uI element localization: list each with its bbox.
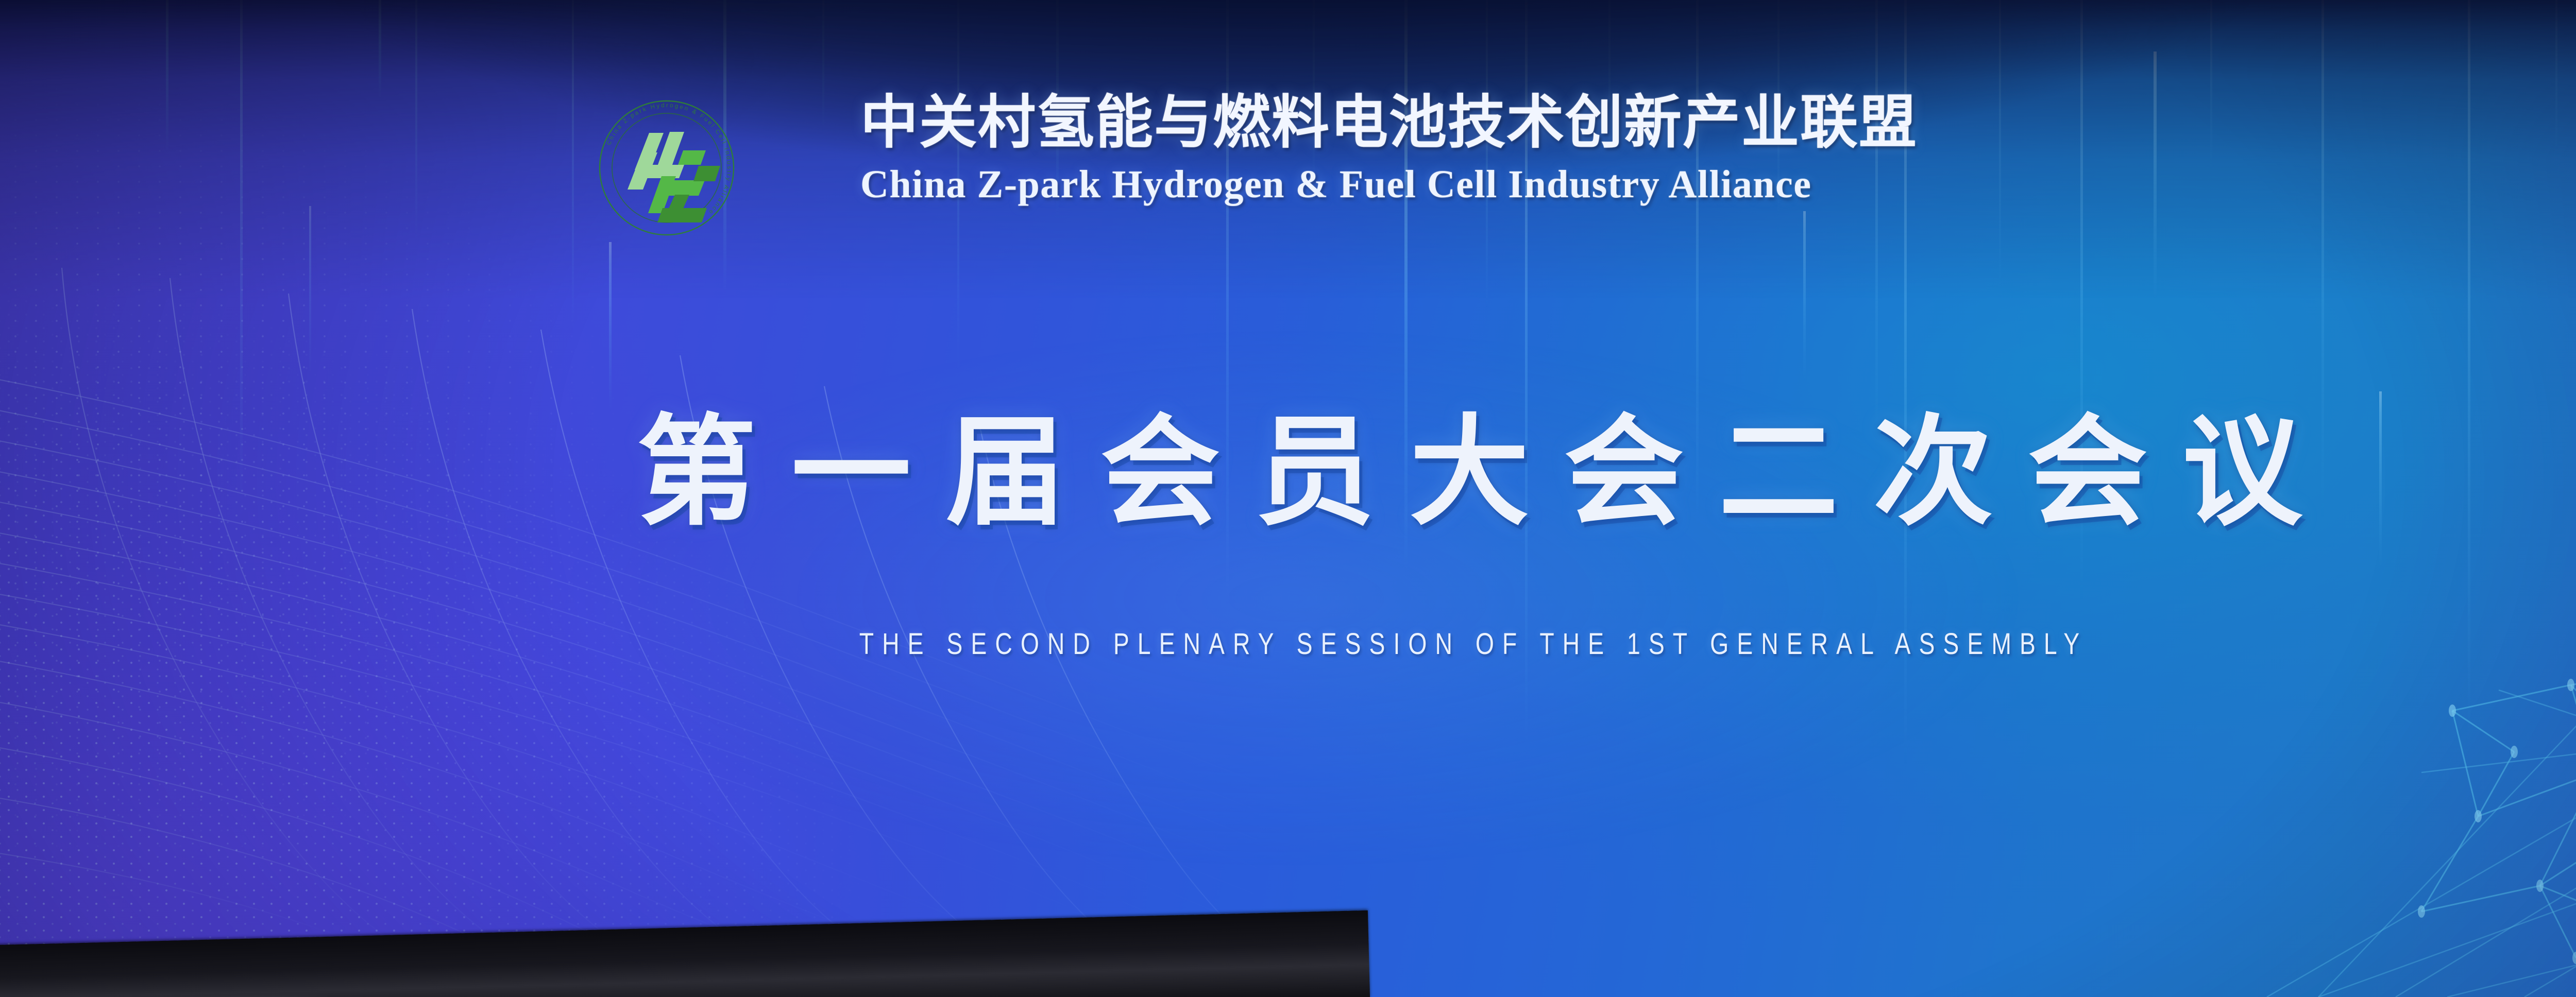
conference-backdrop: China Z-park Hydrogen & Fuel Cell Indust… — [0, 0, 2576, 997]
alliance-name-cn: 中关村氢能与燃料电池技术创新产业联盟 — [860, 94, 1918, 151]
hydrogen-alliance-logo-icon: China Z-park Hydrogen & Fuel Cell Indust… — [598, 99, 736, 237]
event-headline-cn: 第一届会员大会二次会议 — [0, 412, 2576, 534]
alliance-logo: China Z-park Hydrogen & Fuel Cell Indust… — [598, 99, 736, 237]
event-subtitle-en: THE SECOND PLENARY SESSION OF THE 1ST GE… — [294, 629, 2576, 659]
alliance-name-block: 中关村氢能与燃料电池技术创新产业联盟 China Z-park Hydrogen… — [860, 88, 1918, 204]
alliance-name-en: China Z-park Hydrogen & Fuel Cell Indust… — [860, 165, 1918, 204]
logo-h2-mark — [628, 132, 720, 222]
alliance-header: China Z-park Hydrogen & Fuel Cell Indust… — [598, 88, 1918, 237]
